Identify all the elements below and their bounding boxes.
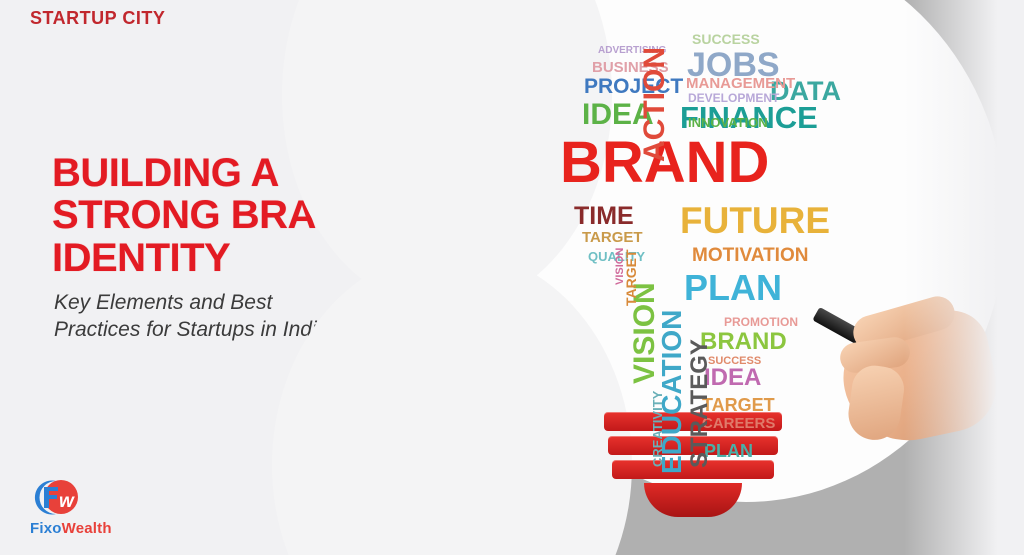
word-cloud-term: TIME <box>574 204 634 229</box>
word-cloud-term: DEVELOPMENT <box>688 92 779 104</box>
logo-name-part2: Wealth <box>62 520 112 537</box>
article-banner: STARTUP CITY BUILDING A STRONG BRAND IDE… <box>0 0 1024 555</box>
word-cloud-term: TARGET <box>582 230 643 245</box>
publisher-name: STARTUP CITY <box>30 8 165 29</box>
word-cloud-term: PROMOTION <box>724 316 798 328</box>
word-cloud-term: BRAND <box>700 330 787 354</box>
word-cloud-term: MOTIVATION <box>692 246 808 265</box>
logo-wordmark: FixoWealth <box>30 520 180 537</box>
fixowealth-logo[interactable]: w FixoWealth <box>30 478 180 537</box>
svg-text:w: w <box>59 491 75 512</box>
word-cloud-term: ACTION <box>640 47 670 162</box>
word-cloud-term: SUCCESS <box>692 32 760 46</box>
hero-graphic: BRANDJOBSFINANCEIDEADATAPROJECTFUTURETIM… <box>432 0 1024 555</box>
word-cloud-term: PLAN <box>684 270 782 306</box>
word-cloud-term: SUCCESS <box>708 356 761 367</box>
word-cloud-term: STRATEGY <box>688 339 712 468</box>
lightbulb-word-cloud: BRANDJOBSFINANCEIDEADATAPROJECTFUTURETIM… <box>552 24 862 494</box>
right-edge-fade <box>904 0 1024 555</box>
word-cloud-term: MANAGEMENT <box>686 76 795 91</box>
word-cloud-term: FUTURE <box>680 202 830 239</box>
word-cloud-term: TARGET <box>624 249 638 306</box>
word-cloud-term: CAREERS <box>702 416 775 431</box>
word-cloud-term: CREATIVITY <box>651 391 664 467</box>
logo-name-part1: Fixo <box>30 520 62 537</box>
word-cloud-term: INNOVATION <box>688 116 768 129</box>
fw-monogram-icon: w <box>34 478 80 518</box>
word-cloud-term: VISION <box>615 248 626 285</box>
